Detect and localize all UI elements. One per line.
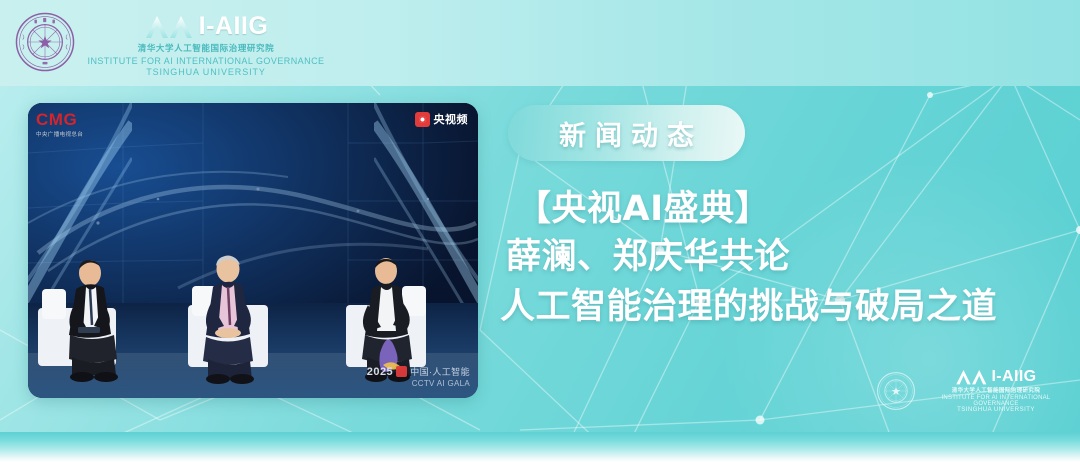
headline-line-2: 薛澜、郑庆华共论 [500,232,1065,282]
bottom-fade-band [0,432,1080,462]
video-thumbnail[interactable]: CMG 中央广播电视总台 央视频 2025 中国·人工智能 CCTV AI GA… [28,103,478,398]
stage-event-badge: 2025 中国·人工智能 CCTV AI GALA [367,365,470,388]
footer-logo-cn: 清华大学人工智能国际治理研究院 [924,386,1068,394]
event-badge-icon [396,366,407,377]
cctv-video-watermark: 央视频 [415,111,469,127]
headline-line-3: 人工智能治理的挑战与破局之道 [500,282,1065,332]
iaiig-logo-en-line2: TSINGHUA UNIVERSITY [76,67,336,77]
cmg-logo: CMG 中央广播电视总台 [36,111,110,138]
iaiig-logo-en-line1: INSTITUTE FOR AI INTERNATIONAL GOVERNANC… [76,56,336,66]
cctv-video-icon [415,112,430,127]
event-year: 2025 [367,366,393,378]
tsinghua-seal-icon [14,11,76,73]
iaiig-logo-cn: 清华大学人工智能国际治理研究院 [76,42,336,54]
event-name-cn: 中国·人工智能 [410,365,470,378]
news-banner: I-AIIG 清华大学人工智能国际治理研究院 INSTITUTE FOR AI … [0,0,1080,462]
iaiig-logo: I-AIIG 清华大学人工智能国际治理研究院 INSTITUTE FOR AI … [76,12,336,77]
footer-logo-en-line1: INSTITUTE FOR AI INTERNATIONAL GOVERNANC… [924,395,1068,407]
cmg-logo-cn: 中央广播电视总台 [36,130,110,138]
header: I-AIIG 清华大学人工智能国际治理研究院 INSTITUTE FOR AI … [0,0,1080,86]
cmg-logo-word: CMG [36,111,110,128]
footer-logo-word: I-AIIG [991,369,1036,385]
event-name-sub: CCTV AI GALA [412,379,470,388]
category-badge-label: 新闻动态 [550,114,703,153]
footer-iaiig-logo: I-AIIG 清华大学人工智能国际治理研究院 INSTITUTE FOR AI … [876,368,1068,413]
iaiig-logo-word: I-AIIG [199,14,269,39]
cctv-video-label: 央视频 [434,111,469,127]
headline: 【央视AI盛典】 薛澜、郑庆华共论 人工智能治理的挑战与破局之道 [500,186,1065,332]
headline-line-1: 【央视AI盛典】 [500,186,1065,232]
footer-tsinghua-seal-icon [876,371,916,411]
iaiig-peaks-icon [144,13,196,39]
category-badge: 新闻动态 [508,105,745,161]
footer-logo-en-line2: TSINGHUA UNIVERSITY [924,407,1068,413]
footer-iaiig-peaks-icon [955,368,989,385]
guest-center [203,256,254,385]
